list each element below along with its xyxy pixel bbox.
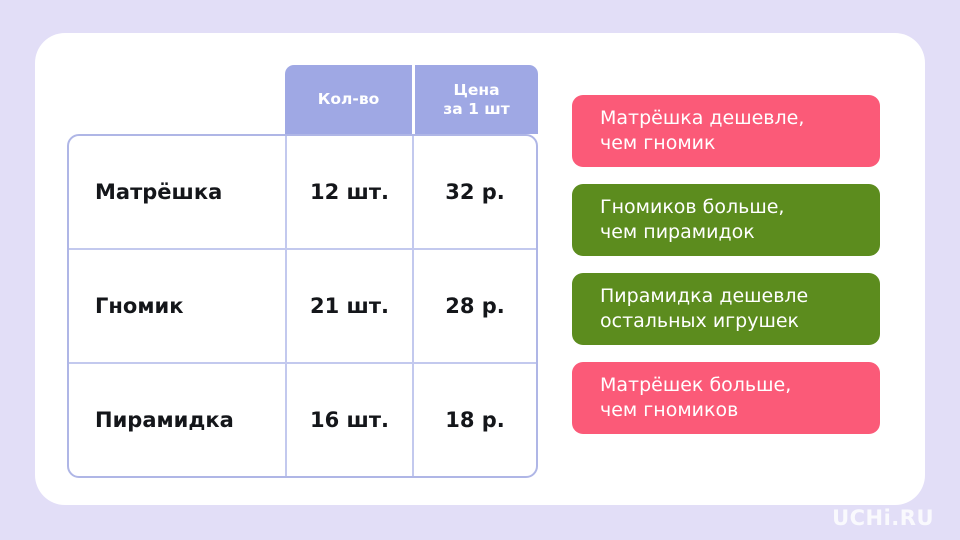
table-cell-price: 18 р.	[414, 364, 536, 476]
statement-card-line2: чем пирамидок	[600, 220, 880, 245]
statement-card-line2: чем гномиков	[600, 398, 880, 423]
table-header-price-label-line1: Цена	[443, 81, 510, 99]
statement-card[interactable]: Гномиков больше, чем пирамидок	[572, 184, 880, 256]
statement-card-line1: Матрёшка дешевле,	[600, 106, 880, 131]
table-header-quantity-label: Кол-во	[318, 90, 380, 108]
statement-card-line1: Гномиков больше,	[600, 195, 880, 220]
statement-card[interactable]: Пирамидка дешевле остальных игрушек	[572, 273, 880, 345]
table-row: Пирамидка 16 шт. 18 р.	[69, 364, 536, 476]
statement-card[interactable]: Матрёшек больше, чем гномиков	[572, 362, 880, 434]
table-cell-price: 28 р.	[414, 250, 536, 362]
statement-card-line1: Матрёшек больше,	[600, 373, 880, 398]
table-cell-quantity: 21 шт.	[287, 250, 414, 362]
uchi-ru-watermark: UCHi.RU	[832, 506, 934, 530]
statement-card-line2: чем гномик	[600, 131, 880, 156]
table-row: Гномик 21 шт. 28 р.	[69, 250, 536, 364]
table-header-price-label-line2: за 1 шт	[443, 100, 510, 118]
table-header-price: Цена за 1 шт	[415, 65, 538, 134]
statement-card[interactable]: Матрёшка дешевле, чем гномик	[572, 95, 880, 167]
statement-card-line2: остальных игрушек	[600, 309, 880, 334]
table-header-quantity: Кол-во	[285, 65, 412, 134]
slide-panel: Кол-во Цена за 1 шт Матрёшка 12 шт. 32 р…	[35, 33, 925, 505]
statement-card-line1: Пирамидка дешевле	[600, 284, 880, 309]
table-cell-name: Матрёшка	[69, 136, 287, 248]
table-row: Матрёшка 12 шт. 32 р.	[69, 136, 536, 250]
table-cell-quantity: 12 шт.	[287, 136, 414, 248]
table-header-price-label: Цена за 1 шт	[443, 81, 510, 118]
statement-card-list: Матрёшка дешевле, чем гномик Гномиков бо…	[572, 95, 880, 434]
table-header-row: Кол-во Цена за 1 шт	[285, 65, 538, 134]
table-cell-quantity: 16 шт.	[287, 364, 414, 476]
table-cell-name: Гномик	[69, 250, 287, 362]
price-table: Кол-во Цена за 1 шт Матрёшка 12 шт. 32 р…	[67, 65, 538, 478]
table-cell-name: Пирамидка	[69, 364, 287, 476]
table-cell-price: 32 р.	[414, 136, 536, 248]
table-body: Матрёшка 12 шт. 32 р. Гномик 21 шт. 28 р…	[67, 134, 538, 478]
